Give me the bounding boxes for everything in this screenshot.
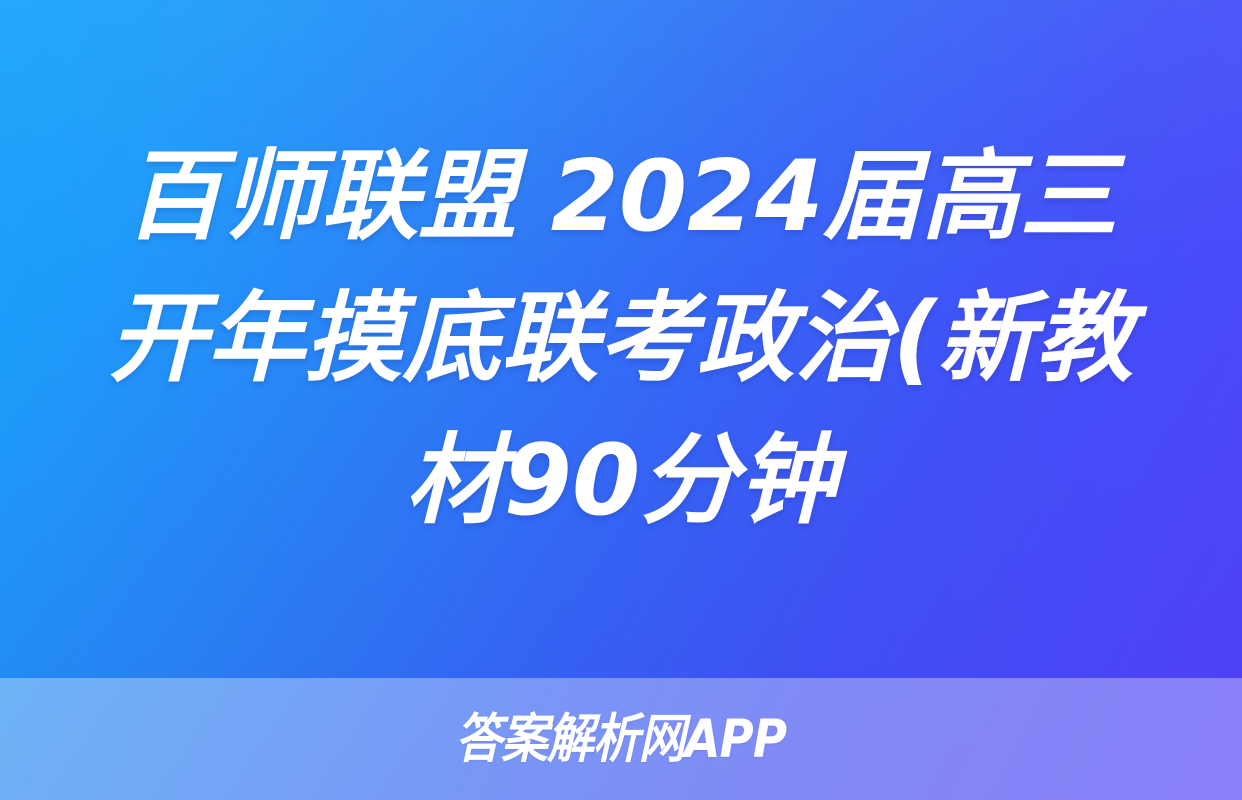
- exam-cover-banner: 百师联盟 2024届高三开年摸底联考政治(新教材90分钟 答案解析网APP: [0, 0, 1242, 800]
- title-area: 百师联盟 2024届高三开年摸底联考政治(新教材90分钟: [0, 0, 1242, 678]
- footer-watermark-band: 答案解析网APP: [0, 678, 1242, 800]
- page-title: 百师联盟 2024届高三开年摸底联考政治(新教材90分钟: [78, 126, 1164, 552]
- app-watermark-label: 答案解析网APP: [456, 713, 787, 766]
